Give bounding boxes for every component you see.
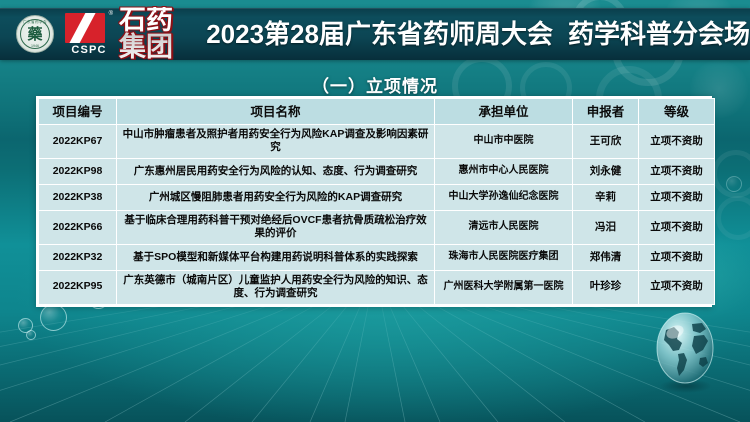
cell-project-name: 广东惠州居民用药安全行为风险的认知、态度、行为调查研究 <box>117 158 435 184</box>
column-header-id: 项目编号 <box>39 99 117 125</box>
seal-bottom-text: 1946 <box>17 44 53 48</box>
cell-project-id: 2022KP32 <box>39 244 117 270</box>
cspc-mark-icon <box>65 13 105 43</box>
conference-title: 2023第28届广东省药师周大会 <box>206 21 553 47</box>
seal-top-text: 广东省药学会 <box>17 20 53 25</box>
column-header-level: 等级 <box>639 99 715 125</box>
cspc-logo: ® CSPC <box>65 13 113 56</box>
column-header-person: 申报者 <box>573 99 639 125</box>
table-row: 2022KP32 基于SPO模型和新媒体平台构建用药说明科普体系的实践探索 珠海… <box>39 244 715 270</box>
cell-grade: 立项不资助 <box>639 270 715 304</box>
cell-grade: 立项不资助 <box>639 125 715 159</box>
cell-project-name: 中山市肿瘤患者及照护者用药安全行为风险KAP调查及影响因素研究 <box>117 125 435 159</box>
conference-subtitle: 药学科普分会场 <box>568 21 750 47</box>
table-header-row: 项目编号 项目名称 承担单位 申报者 等级 <box>39 99 715 125</box>
cell-applicant: 冯汨 <box>573 210 639 244</box>
bubble-decoration <box>40 304 67 331</box>
cell-grade: 立项不资助 <box>639 210 715 244</box>
bubble-decoration <box>26 330 36 340</box>
seal-character: 藥 <box>27 27 42 42</box>
table-row: 2022KP95 广东英德市（城南片区）儿童监护人用药安全行为风险的知识、态度、… <box>39 270 715 304</box>
cell-organization: 珠海市人民医院医疗集团 <box>435 244 573 270</box>
cell-project-name: 基于SPO模型和新媒体平台构建用药说明科普体系的实践探索 <box>117 244 435 270</box>
table-row: 2022KP98 广东惠州居民用药安全行为风险的认知、态度、行为调查研究 惠州市… <box>39 158 715 184</box>
cell-applicant: 郑伟清 <box>573 244 639 270</box>
cell-organization: 清远市人民医院 <box>435 210 573 244</box>
cspc-slash-shape <box>68 13 98 43</box>
cell-grade: 立项不资助 <box>639 244 715 270</box>
cell-project-id: 2022KP67 <box>39 125 117 159</box>
cell-applicant: 叶珍珍 <box>573 270 639 304</box>
table-row: 2022KP66 基于临床合理用药科普干预对绝经后OVCF患者抗骨质疏松治疗效果… <box>39 210 715 244</box>
table-row: 2022KP67 中山市肿瘤患者及照护者用药安全行为风险KAP调查及影响因素研究… <box>39 125 715 159</box>
cell-organization: 中山市中医院 <box>435 125 573 159</box>
bubble-decoration <box>726 176 742 192</box>
projects-table: 项目编号 项目名称 承担单位 申报者 等级 2022KP67 中山市肿瘤患者及照… <box>38 98 715 305</box>
cell-project-name: 基于临床合理用药科普干预对绝经后OVCF患者抗骨质疏松治疗效果的评价 <box>117 210 435 244</box>
brand-chinese-name: 石药集团 <box>119 7 192 61</box>
cell-organization: 惠州市中心人民医院 <box>435 158 573 184</box>
cell-applicant: 王可欣 <box>573 125 639 159</box>
cell-project-name: 广东英德市（城南片区）儿童监护人用药安全行为风险的知识、态度、行为调查研究 <box>117 270 435 304</box>
globe-icon <box>648 310 722 396</box>
cell-grade: 立项不资助 <box>639 184 715 210</box>
cell-project-id: 2022KP66 <box>39 210 117 244</box>
cell-project-id: 2022KP98 <box>39 158 117 184</box>
cell-project-name: 广州城区慢阻肺患者用药安全行为风险的KAP调查研究 <box>117 184 435 210</box>
cell-project-id: 2022KP38 <box>39 184 117 210</box>
section-title: （一）立项情况 <box>0 72 750 97</box>
table-header: 项目编号 项目名称 承担单位 申报者 等级 <box>39 99 715 125</box>
registered-trademark-icon: ® <box>109 11 113 17</box>
cell-applicant: 辛莉 <box>573 184 639 210</box>
cspc-latin-text: CSPC <box>65 44 113 56</box>
cell-applicant: 刘永健 <box>573 158 639 184</box>
table-body: 2022KP67 中山市肿瘤患者及照护者用药安全行为风险KAP调查及影响因素研究… <box>39 125 715 305</box>
cell-organization: 中山大学孙逸仙纪念医院 <box>435 184 573 210</box>
pharmacy-seal-icon: 广东省药学会 藥 1946 <box>16 15 54 53</box>
cell-project-id: 2022KP95 <box>39 270 117 304</box>
column-header-org: 承担单位 <box>435 99 573 125</box>
cell-grade: 立项不资助 <box>639 158 715 184</box>
column-header-name: 项目名称 <box>117 99 435 125</box>
cell-organization: 广州医科大学附属第一医院 <box>435 270 573 304</box>
projects-table-container: 项目编号 项目名称 承担单位 申报者 等级 2022KP67 中山市肿瘤患者及照… <box>36 96 712 307</box>
slide-canvas: 广东省药学会 藥 1946 ® CSPC 石药集团 2023第28届广东省药师周… <box>0 0 750 422</box>
header-banner: 广东省药学会 藥 1946 ® CSPC 石药集团 2023第28届广东省药师周… <box>0 8 750 60</box>
table-row: 2022KP38 广州城区慢阻肺患者用药安全行为风险的KAP调查研究 中山大学孙… <box>39 184 715 210</box>
